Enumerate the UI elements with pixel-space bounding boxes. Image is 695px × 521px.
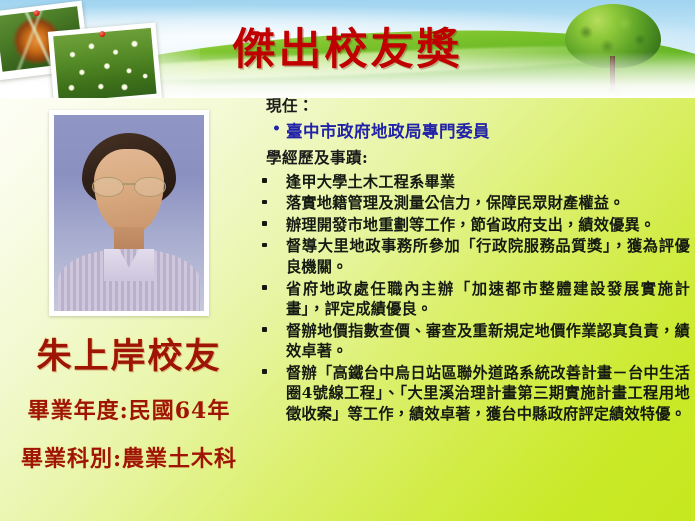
experience-text: 落實地籍管理及測量公信力，保障民眾財產權益。: [286, 193, 690, 214]
portrait-frame: [49, 110, 209, 316]
experience-text: 督導大里地政事務所參加「行政院服務品質獎」，獲為評優良機關。: [286, 236, 690, 277]
bullet-icon: [262, 321, 286, 332]
experience-text: 督辦「高鐵台中烏日站區聯外道路系統改善計畫－台中生活圈4號線工程」、「大里溪治理…: [286, 363, 690, 425]
experience-text: 逢甲大學土木工程系畢業: [286, 172, 690, 193]
list-item: 督辦地價指數查價、審查及重新規定地價作業認真負責，績效卓著。: [262, 321, 690, 362]
alumni-name: 朱上岸校友: [0, 328, 258, 379]
bullet-icon: [262, 172, 286, 183]
page-title: 傑出校友獎: [0, 15, 695, 77]
current-position-text: 臺中市政府地政局專門委員: [286, 120, 490, 143]
current-position-list: • 臺中市政府地政局專門委員: [262, 120, 690, 143]
graduation-year: 畢業年度:民國64年: [0, 393, 258, 425]
bullet-icon: [262, 215, 286, 226]
list-item: 落實地籍管理及測量公信力，保障民眾財產權益。: [262, 193, 690, 214]
list-item: • 臺中市政府地政局專門委員: [272, 120, 690, 143]
bullet-icon: [262, 236, 286, 247]
avatar: [54, 115, 204, 311]
current-position-heading: 現任：: [266, 96, 690, 117]
list-item: 督導大里地政事務所參加「行政院服務品質獎」，獲為評優良機關。: [262, 236, 690, 277]
alumni-award-slide: 傑出校友獎 朱上岸校友 畢業年度:民國64年 畢業科別:農業土木科 現任：: [0, 0, 695, 521]
glasses-right-lens: [134, 177, 166, 197]
experience-text: 督辦地價指數查價、審查及重新規定地價作業認真負責，績效卓著。: [286, 321, 690, 362]
experience-list: 逢甲大學土木工程系畢業 落實地籍管理及測量公信力，保障民眾財產權益。 辦理開發市…: [262, 172, 690, 424]
bullet-icon: [262, 193, 286, 204]
experience-text: 省府地政處任職內主辦「加速都市整體建設發展實施計畫」，評定成績優良。: [286, 279, 690, 320]
list-item: 辦理開發市地重劃等工作，節省政府支出，績效優異。: [262, 215, 690, 236]
list-item: 督辦「高鐵台中烏日站區聯外道路系統改善計畫－台中生活圈4號線工程」、「大里溪治理…: [262, 363, 690, 425]
experience-heading: 學經歷及事蹟:: [266, 148, 690, 169]
graduation-department: 畢業科別:農業土木科: [0, 441, 258, 473]
list-item: 逢甲大學土木工程系畢業: [262, 172, 690, 193]
content-column: 現任： • 臺中市政府地政局專門委員 學經歷及事蹟: 逢甲大學土木工程系畢業 落…: [262, 96, 690, 425]
bullet-icon: •: [272, 120, 286, 140]
profile-column: 朱上岸校友 畢業年度:民國64年 畢業科別:農業土木科: [0, 100, 258, 473]
glasses-left-lens: [92, 177, 124, 197]
bullet-icon: [262, 279, 286, 290]
bullet-icon: [262, 363, 286, 374]
experience-text: 辦理開發市地重劃等工作，節省政府支出，績效優異。: [286, 215, 690, 236]
glasses-icon: [92, 177, 166, 195]
list-item: 省府地政處任職內主辦「加速都市整體建設發展實施計畫」，評定成績優良。: [262, 279, 690, 320]
